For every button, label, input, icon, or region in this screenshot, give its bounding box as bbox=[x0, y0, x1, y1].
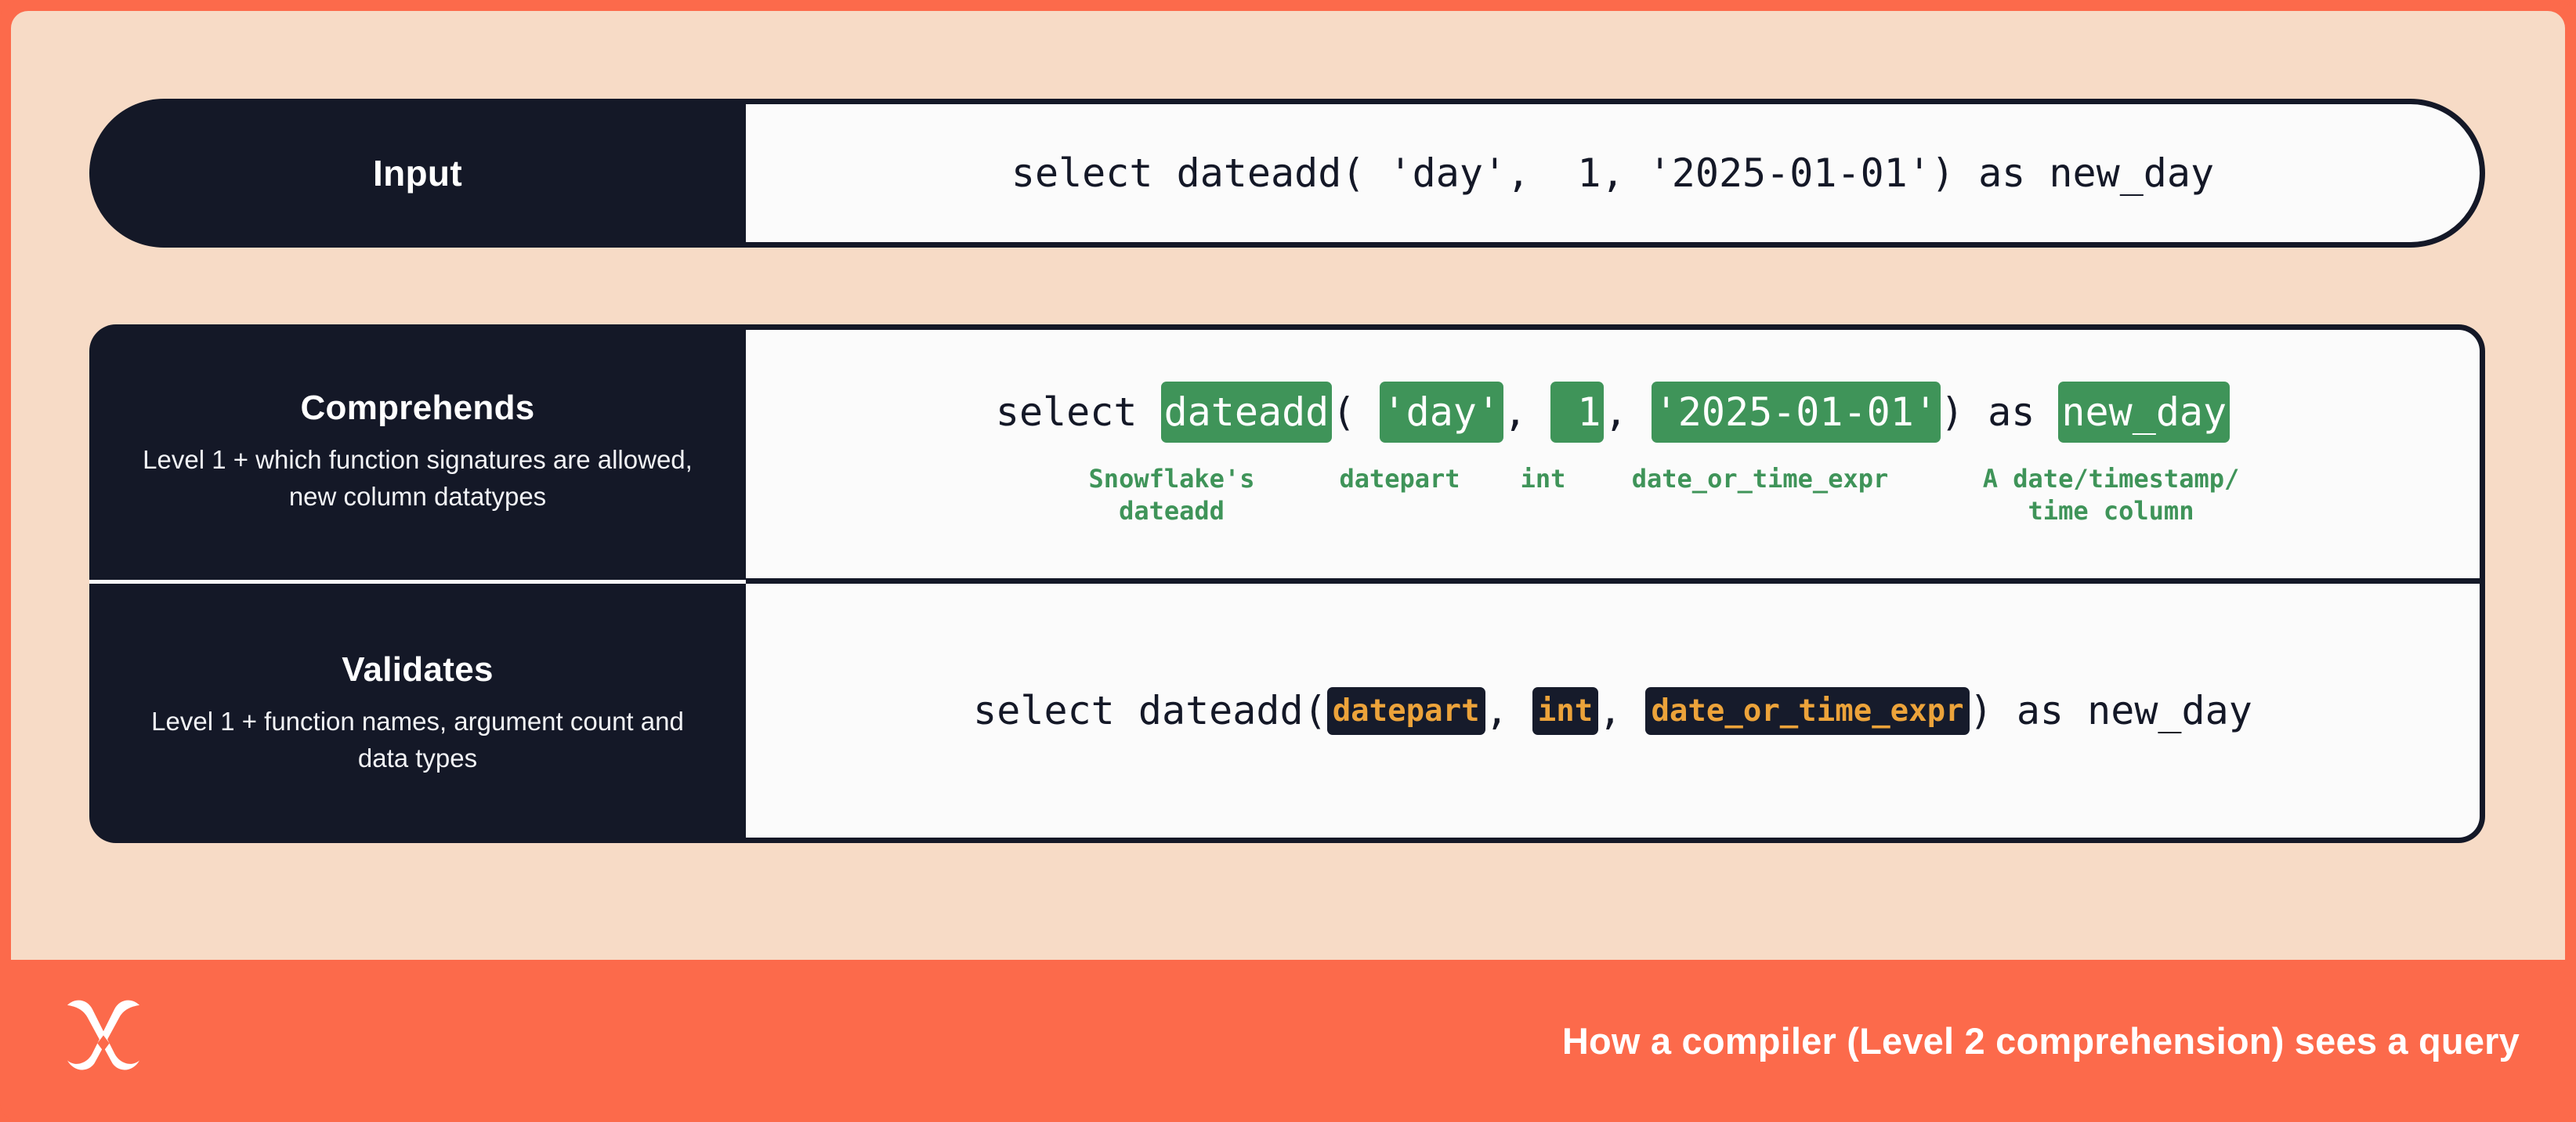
validates-code-cell: select dateadd(datepart, int, date_or_ti… bbox=[746, 584, 2480, 838]
code-token-plain: , bbox=[1598, 691, 1645, 730]
comprehends-label-cell: Comprehends Level 1 + which function sig… bbox=[89, 324, 746, 584]
footer: How a compiler (Level 2 comprehension) s… bbox=[0, 960, 2576, 1122]
poster: Input select dateadd( 'day', 1, '2025-01… bbox=[0, 0, 2576, 1122]
code-token-plain: , bbox=[1485, 691, 1532, 730]
code-token-placeholder: int bbox=[1532, 687, 1598, 735]
comprehends-code-line: select dateadd( 'day', 1, '2025-01-01') … bbox=[996, 382, 2230, 443]
comprehends-annotations: Snowflake's dateadd datepart int date_or… bbox=[957, 463, 2270, 527]
comprehends-description: Level 1 + which function signatures are … bbox=[125, 442, 710, 516]
code-token-placeholder: date_or_time_expr bbox=[1645, 687, 1969, 735]
input-row-label: Input bbox=[89, 99, 746, 248]
code-token-placeholder: datepart bbox=[1327, 687, 1485, 735]
code-token-plain: ) as bbox=[1941, 393, 2059, 432]
code-token-plain: ) as new_day bbox=[1970, 691, 2252, 730]
code-token-highlight: dateadd bbox=[1161, 382, 1333, 443]
code-token-plain: select dateadd( bbox=[973, 691, 1327, 730]
validates-title: Validates bbox=[342, 650, 493, 689]
content-stage: Input select dateadd( 'day', 1, '2025-01… bbox=[11, 11, 2565, 960]
validates-code-line: select dateadd(datepart, int, date_or_ti… bbox=[973, 687, 2252, 735]
annotation-date-timestamp-column: A date/timestamp/ time column bbox=[1953, 463, 2270, 527]
annotation-datepart: datepart bbox=[1306, 463, 1494, 495]
code-token-highlight: '2025-01-01' bbox=[1652, 382, 1941, 443]
annotation-dateadd: Snowflake's dateadd bbox=[1043, 463, 1301, 527]
comprehends-code-cell: select dateadd( 'day', 1, '2025-01-01') … bbox=[746, 330, 2480, 584]
validates-label-cell: Validates Level 1 + function names, argu… bbox=[89, 584, 746, 843]
annotation-int: int bbox=[1497, 463, 1590, 495]
x-logo bbox=[53, 991, 154, 1091]
levels-card: Comprehends Level 1 + which function sig… bbox=[89, 324, 2485, 843]
code-token-highlight: 'day' bbox=[1380, 382, 1504, 443]
comprehends-title: Comprehends bbox=[300, 389, 534, 428]
validates-description: Level 1 + function names, argument count… bbox=[125, 704, 710, 777]
input-row-code: select dateadd( 'day', 1, '2025-01-01') … bbox=[746, 99, 2485, 248]
code-token-plain: select bbox=[996, 393, 1161, 432]
code-token-plain: , bbox=[1604, 393, 1651, 432]
code-token-plain: , bbox=[1503, 393, 1550, 432]
annotation-date-or-time-expr: date_or_time_expr bbox=[1596, 463, 1925, 495]
code-token-highlight: 1 bbox=[1550, 382, 1604, 443]
code-token-plain: ( bbox=[1332, 393, 1379, 432]
levels-card-labels: Comprehends Level 1 + which function sig… bbox=[89, 324, 746, 843]
footer-caption: How a compiler (Level 2 comprehension) s… bbox=[1562, 1019, 2520, 1062]
input-row: Input select dateadd( 'day', 1, '2025-01… bbox=[89, 99, 2485, 248]
code-token-highlight: new_day bbox=[2058, 382, 2230, 443]
levels-card-codes: select dateadd( 'day', 1, '2025-01-01') … bbox=[746, 324, 2485, 843]
